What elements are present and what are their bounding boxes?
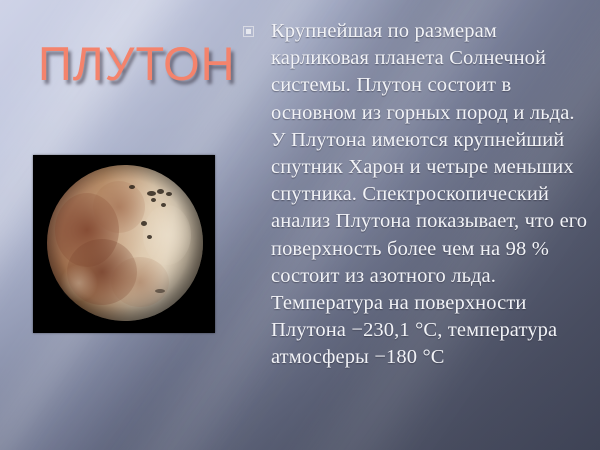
pluto-surface-spot [166,192,172,196]
bullet-list-item: Крупнейшая по размерам карликовая планет… [243,18,593,372]
pluto-surface-spot [151,198,156,202]
pluto-dark-region [55,193,119,267]
body-paragraph: Крупнейшая по размерам карликовая планет… [271,18,593,372]
pluto-image [33,155,215,333]
pluto-surface-spot [155,289,165,293]
pluto-dark-region [111,257,169,307]
presentation-slide: ПЛУТОН Крупнейшая по размерам карликовая… [0,0,600,450]
pluto-bright-region [59,265,99,301]
pluto-surface-spot [157,189,164,194]
slide-title: ПЛУТОН [38,36,236,91]
slide-body: Крупнейшая по размерам карликовая планет… [243,18,593,372]
pluto-surface-spot [141,221,147,226]
pluto-globe [47,165,203,321]
pluto-surface-spot [147,191,156,196]
pluto-dark-region [93,181,145,233]
pluto-surface-spot [147,235,152,239]
pluto-surface-spot [161,203,166,207]
pluto-surface-spot [129,185,135,189]
square-bullet-icon [243,26,254,37]
pluto-dark-region [67,239,137,305]
pluto-bright-region [143,205,191,265]
